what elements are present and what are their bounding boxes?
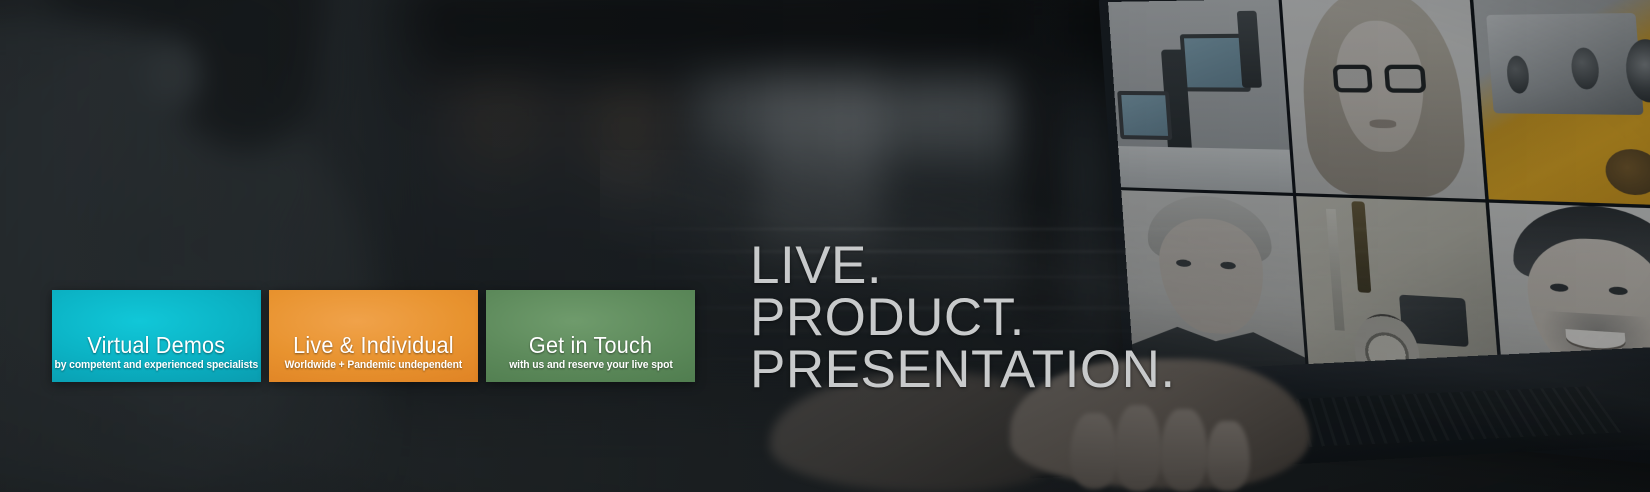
cta-button-row: Virtual Demos by competent and experienc… bbox=[52, 290, 695, 382]
participant-mouth bbox=[1369, 120, 1396, 128]
machine-column-secondary bbox=[1237, 11, 1262, 88]
machine-rod-secondary bbox=[1351, 201, 1371, 293]
cta-subtitle: with us and reserve your live spot bbox=[509, 358, 672, 372]
person-ear bbox=[110, 15, 230, 135]
finger bbox=[1160, 409, 1208, 491]
glasses-right-lens bbox=[1384, 64, 1426, 92]
cta-live-individual[interactable]: Live & Individual Worldwide + Pandemic u… bbox=[269, 290, 478, 382]
cta-title: Get in Touch bbox=[529, 333, 652, 358]
finger bbox=[1070, 413, 1118, 489]
cta-subtitle: by competent and experienced specialists bbox=[55, 358, 259, 372]
machine-rod bbox=[1326, 208, 1344, 330]
live-product-presentation-banner: LIVE. PRODUCT. PRESENTATION. Virtual Dem… bbox=[0, 0, 1650, 492]
video-tile-participant-woman bbox=[1282, 0, 1486, 199]
machine-base-plate bbox=[1118, 146, 1293, 192]
cta-title: Virtual Demos bbox=[88, 333, 226, 358]
cta-subtitle: Worldwide + Pandemic undependent bbox=[285, 358, 462, 372]
headline-line-3: PRESENTATION. bbox=[750, 344, 1176, 396]
page-title: LIVE. PRODUCT. PRESENTATION. bbox=[750, 240, 1176, 396]
headline-line-1: LIVE. bbox=[750, 240, 1176, 292]
cta-get-in-touch[interactable]: Get in Touch with us and reserve your li… bbox=[486, 290, 695, 382]
video-tile-machine-yellow bbox=[1473, 0, 1650, 206]
finger bbox=[1114, 405, 1162, 491]
cta-virtual-demos[interactable]: Virtual Demos by competent and experienc… bbox=[52, 290, 261, 382]
machine-tube bbox=[1603, 148, 1650, 196]
video-tile-machine-control bbox=[1108, 0, 1293, 192]
cta-title: Live & Individual bbox=[293, 333, 454, 358]
foreground-person-silhouette bbox=[0, 0, 500, 492]
headline-line-2: PRODUCT. bbox=[750, 292, 1176, 344]
glasses-left-lens bbox=[1332, 64, 1373, 92]
finger bbox=[1206, 421, 1250, 491]
